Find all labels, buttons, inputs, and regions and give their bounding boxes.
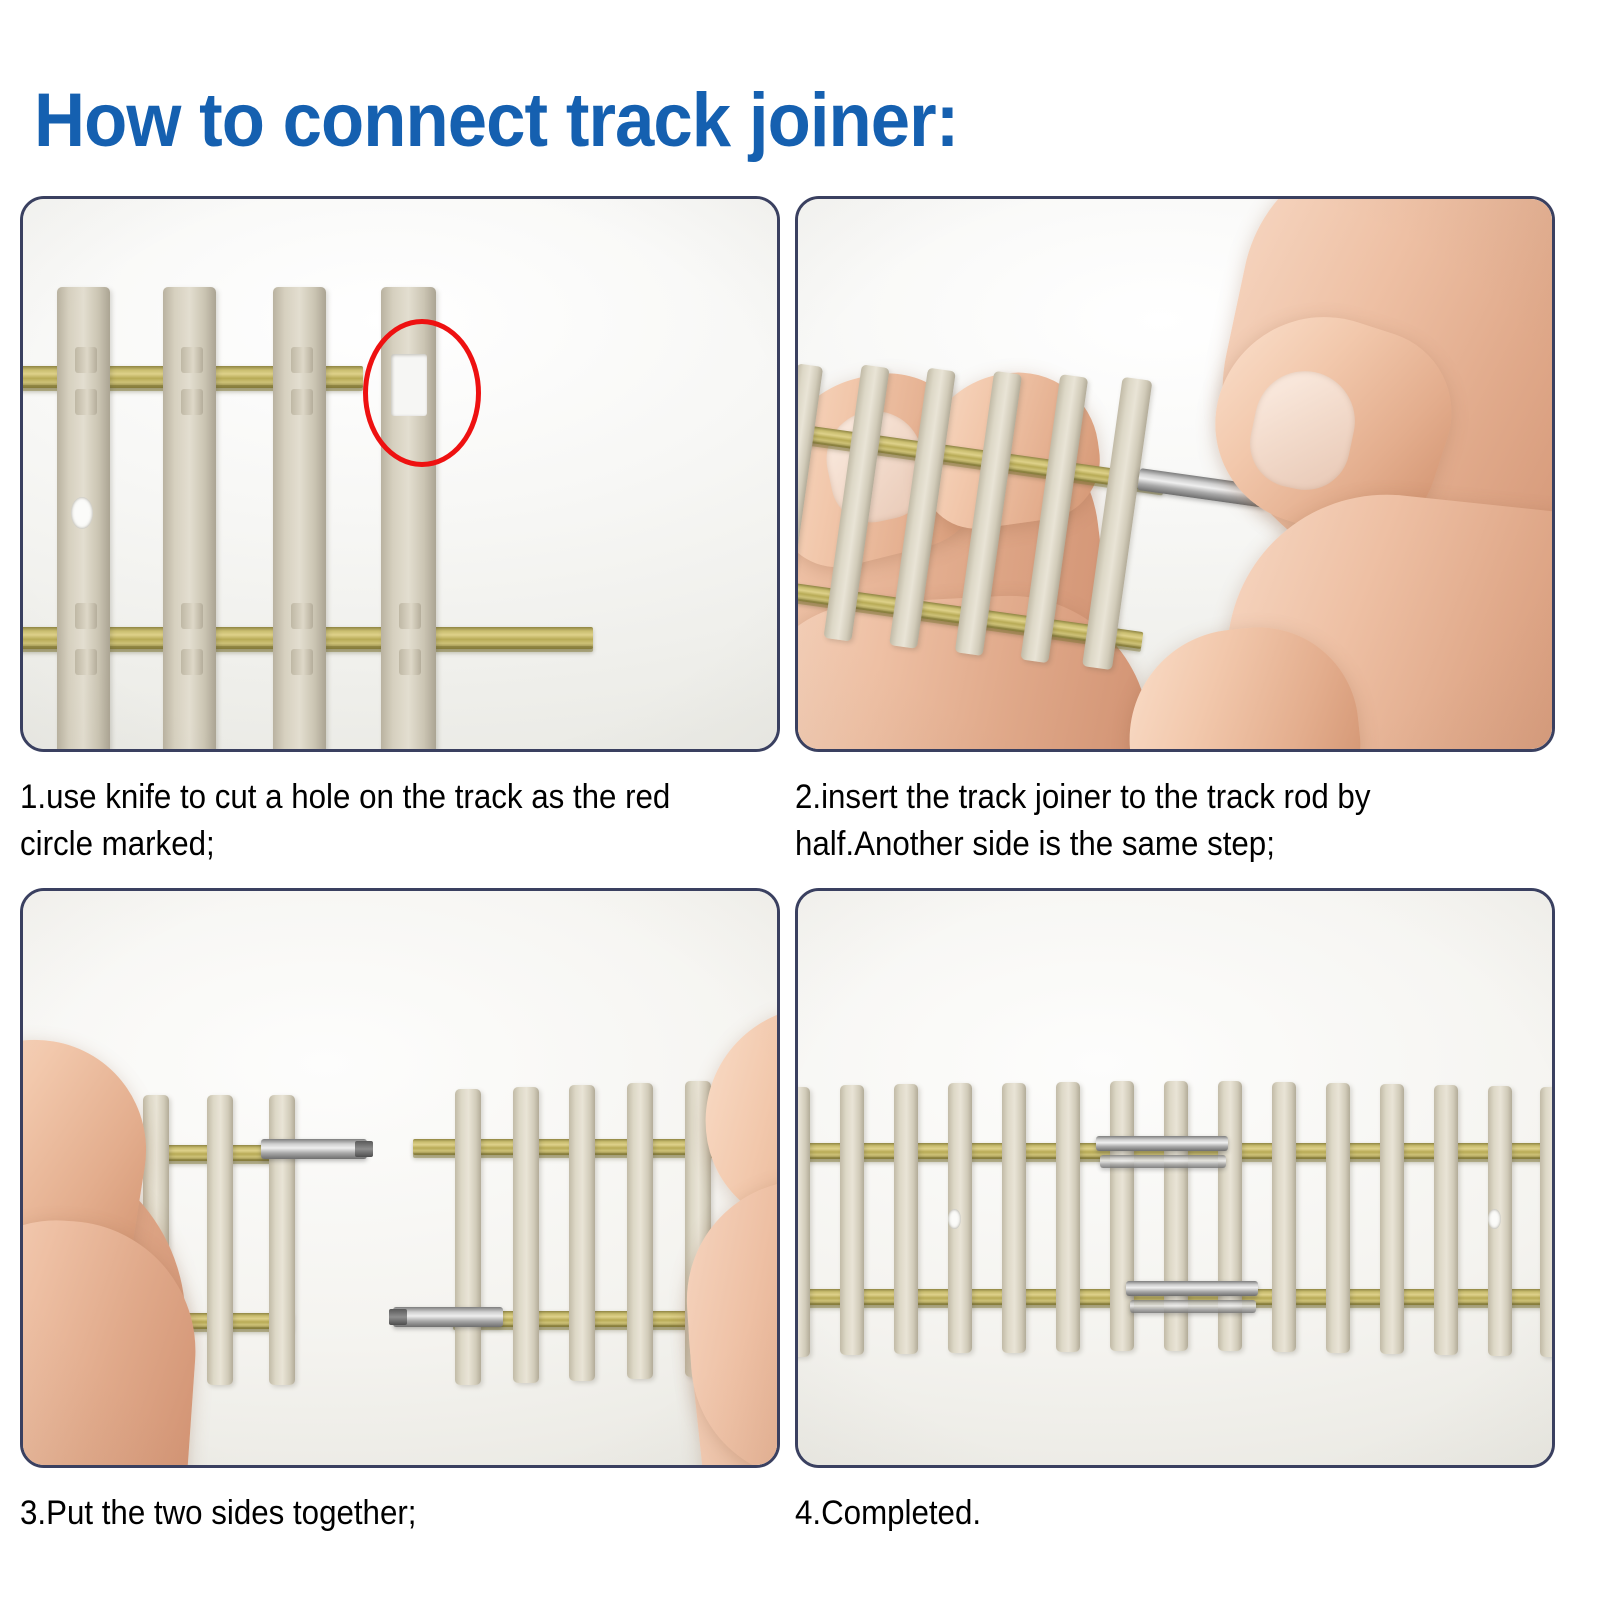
step-2: 2.insert the track joiner to the track r…	[795, 196, 1555, 868]
sleeper-mould-hole-left	[948, 1209, 961, 1229]
step-4-photo-panel	[795, 888, 1555, 1468]
sleeper-4	[627, 1083, 653, 1379]
step-2-caption: 2.insert the track joiner to the track r…	[795, 774, 1457, 868]
sleeper-mould-hole	[71, 497, 93, 529]
sleeper-2	[513, 1087, 539, 1383]
photo-inserting-joiner	[798, 199, 1552, 749]
rail-chair-3a	[291, 347, 313, 373]
step-3-photo-panel	[20, 888, 780, 1468]
sleeper-3	[569, 1085, 595, 1381]
rail-chair-3b	[291, 389, 313, 415]
rail-chair-1d	[75, 649, 97, 675]
rail-chair-2b	[181, 389, 203, 415]
red-circle-marker	[363, 319, 481, 467]
rail-chair-3c	[291, 603, 313, 629]
track-assembly-complete	[795, 1081, 1555, 1351]
photo-track-with-cut-notch	[23, 199, 777, 749]
step-4-caption: 4.Completed.	[795, 1490, 1457, 1537]
rail-chair-3d	[291, 649, 313, 675]
rail-chair-1a	[75, 347, 97, 373]
sleeper-2	[840, 1085, 864, 1355]
step-2-photo-panel	[795, 196, 1555, 752]
sleeper-10	[1272, 1082, 1296, 1352]
step-4: 4.Completed.	[795, 888, 1555, 1537]
photo-completed-track	[798, 891, 1552, 1465]
rail-chair-2d	[181, 649, 203, 675]
step-1-caption: 1.use knife to cut a hole on the track a…	[20, 774, 682, 868]
photo-joining-two-sides	[23, 891, 777, 1465]
sleeper-6	[1056, 1082, 1080, 1352]
sleeper-11	[1326, 1083, 1350, 1353]
track-joiner-lower-tip	[389, 1309, 407, 1325]
sleeper-4	[207, 1095, 233, 1385]
rail-chair-4c	[399, 603, 421, 629]
sleeper-3	[894, 1084, 918, 1354]
track-joiner-upper-tip	[355, 1141, 373, 1157]
sleeper-6	[1082, 377, 1152, 670]
page-title: How to connect track joiner:	[34, 78, 958, 164]
track-joiner-upper-back	[1100, 1155, 1226, 1168]
step-3-caption: 3.Put the two sides together;	[20, 1490, 682, 1537]
track-joiner-lower-back	[1130, 1300, 1256, 1313]
step-1: 1.use knife to cut a hole on the track a…	[20, 196, 780, 868]
step-1-photo-panel	[20, 196, 780, 752]
instruction-sheet: How to connect track joiner:	[0, 0, 1601, 1601]
sleeper-12	[1380, 1084, 1404, 1354]
rail-chair-2a	[181, 347, 203, 373]
sleeper-5	[1002, 1083, 1026, 1353]
sleeper-mould-hole-right	[1488, 1209, 1501, 1229]
sleeper-15	[1540, 1087, 1555, 1357]
sleeper-1	[455, 1089, 481, 1385]
track-joiner-upper	[1096, 1136, 1228, 1151]
rail-chair-2c	[181, 603, 203, 629]
track-joiner-lower	[393, 1307, 503, 1327]
sleeper-1	[795, 1087, 810, 1357]
rail-chair-4d	[399, 649, 421, 675]
rail-chair-1c	[75, 603, 97, 629]
track-joiner-lower	[1126, 1281, 1258, 1296]
sleeper-13	[1434, 1085, 1458, 1355]
step-3: 3.Put the two sides together;	[20, 888, 780, 1537]
track-joiner-upper	[261, 1139, 367, 1159]
rail-chair-1b	[75, 389, 97, 415]
